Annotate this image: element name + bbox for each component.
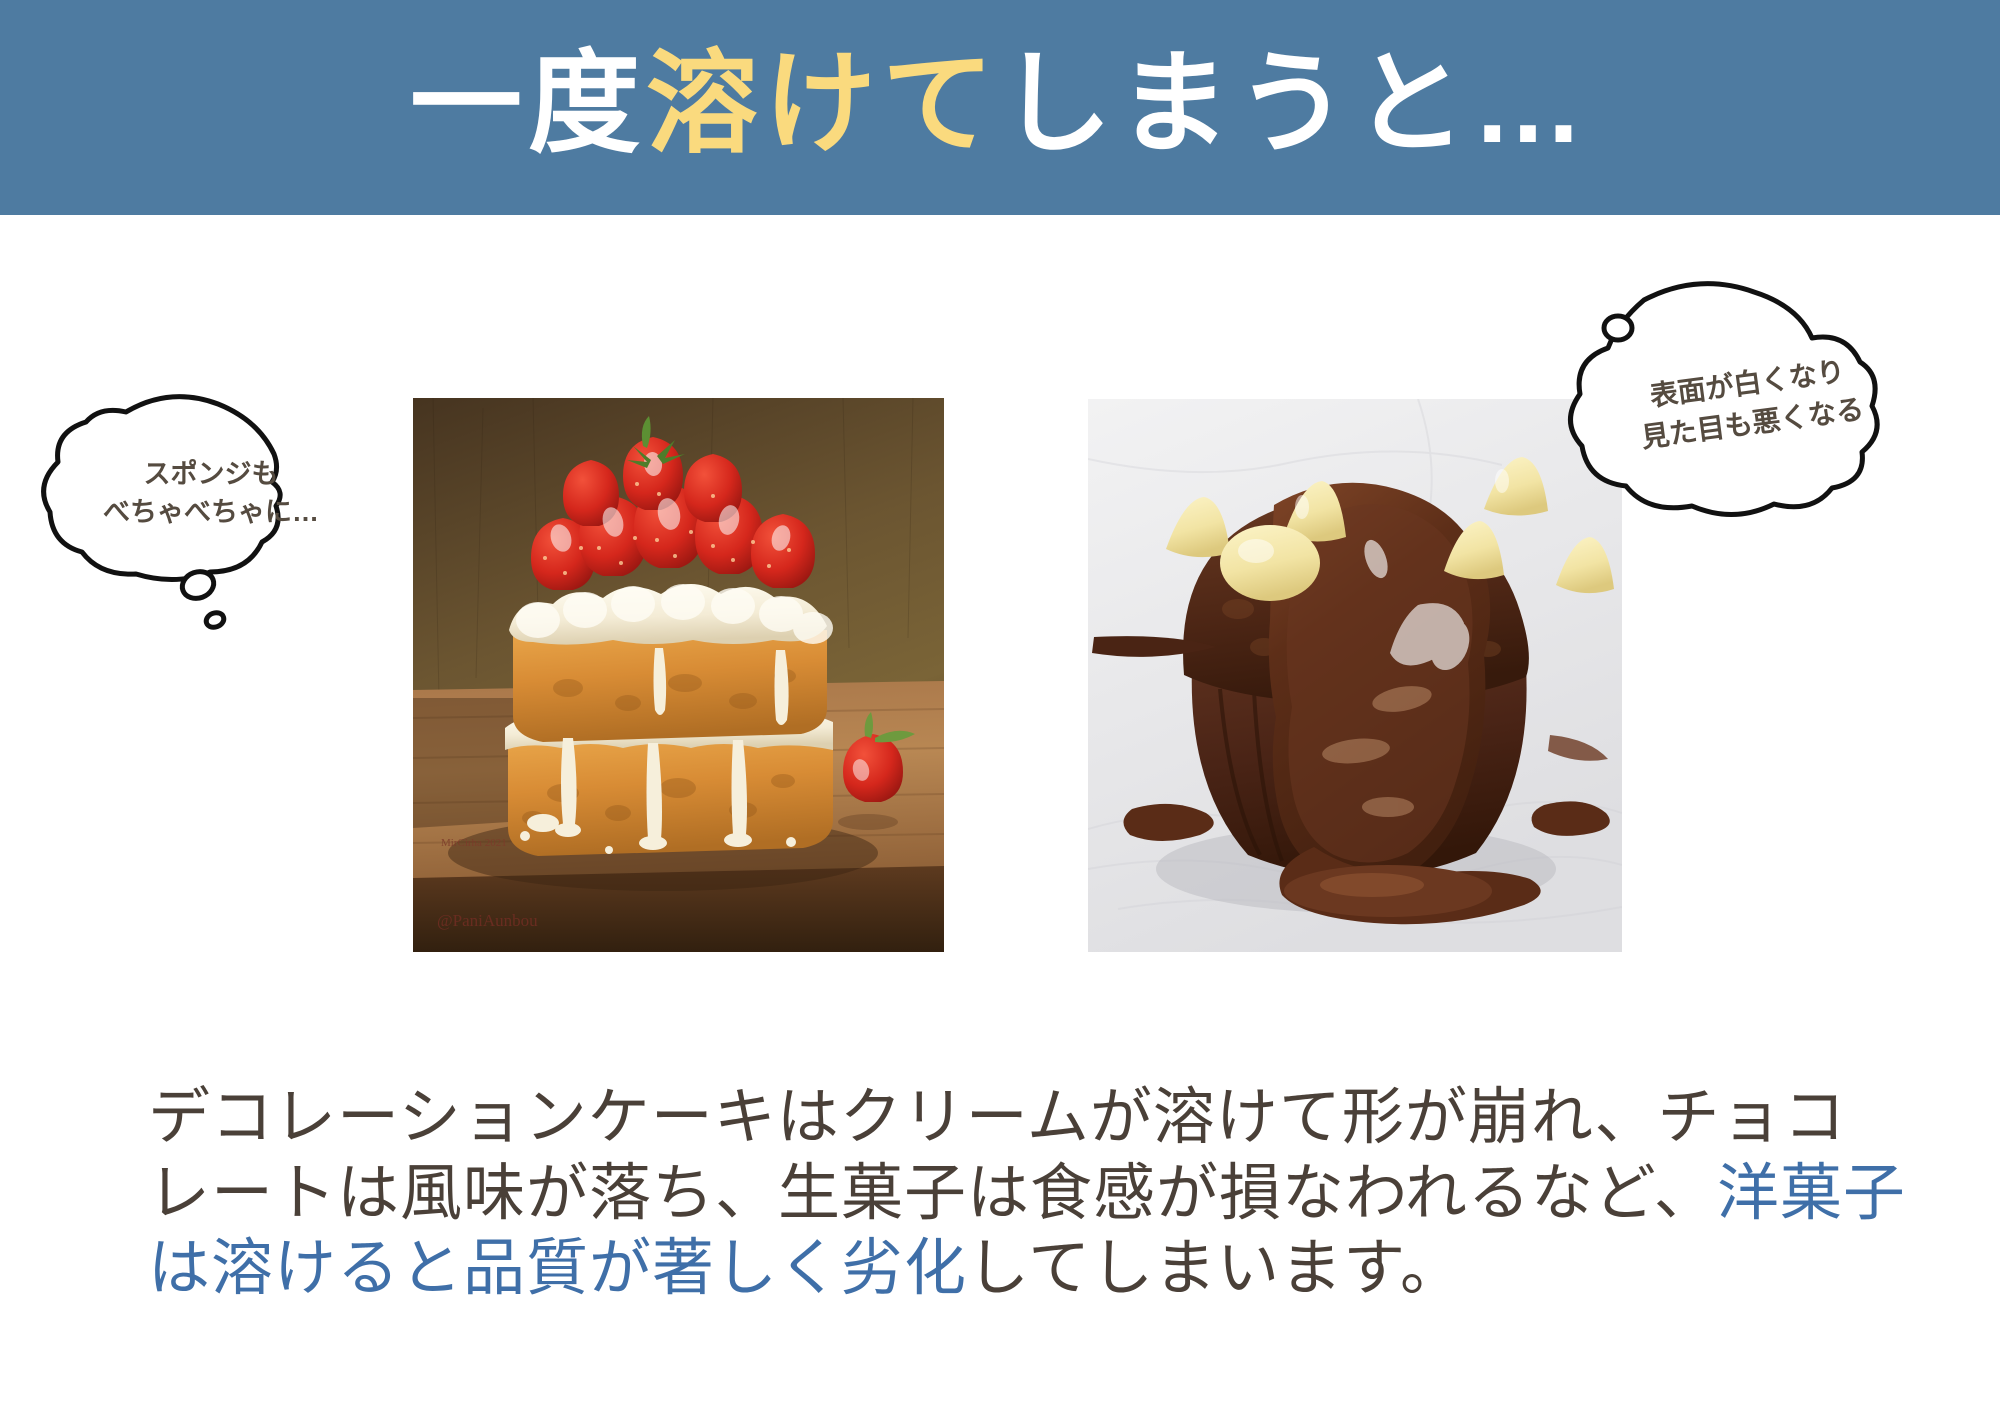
photo-melting-chocolate-muffin <box>1088 399 1622 952</box>
page-title: 一度溶けてしまうと… <box>410 48 1590 160</box>
body-segment-plain-2: してしまいます。 <box>967 1234 1463 1303</box>
speech-bubble-right: 表面が白くなり 見た目も悪くなる <box>1552 268 1972 568</box>
chocolate-muffin-illustration <box>1088 399 1622 952</box>
speech-bubble-left-line-1: スポンジも <box>86 455 336 493</box>
page-title-part-3: しまうと… <box>1000 41 1590 166</box>
body-segment-plain-1: デコレーションケーキはクリームが溶けて形が崩れ、チョコレートは風味が落ち、生菓子… <box>148 1083 1847 1228</box>
artist-mark: MirCirha 2021 <box>441 837 507 849</box>
photo-signature: @PaniAunbou <box>437 911 538 930</box>
speech-bubble-left-line-2: べちゃべちゃに… <box>86 493 336 531</box>
page-title-part-1: 一度 <box>410 41 646 166</box>
strawberry-cake-illustration: MirCirha 2021 @PaniAunbou <box>413 398 944 952</box>
body-paragraph: デコレーションケーキはクリームが溶けて形が崩れ、チョコレートは風味が落ち、生菓子… <box>148 1080 1908 1307</box>
photo-strawberry-layer-cake: MirCirha 2021 @PaniAunbou <box>413 398 944 952</box>
header-banner: 一度溶けてしまうと… <box>0 0 2000 215</box>
speech-bubble-left-text: スポンジも べちゃべちゃに… <box>86 455 336 532</box>
speech-bubble-left: スポンジも べちゃべちゃに… <box>30 380 390 670</box>
page-title-part-2: 溶けて <box>646 41 1000 166</box>
